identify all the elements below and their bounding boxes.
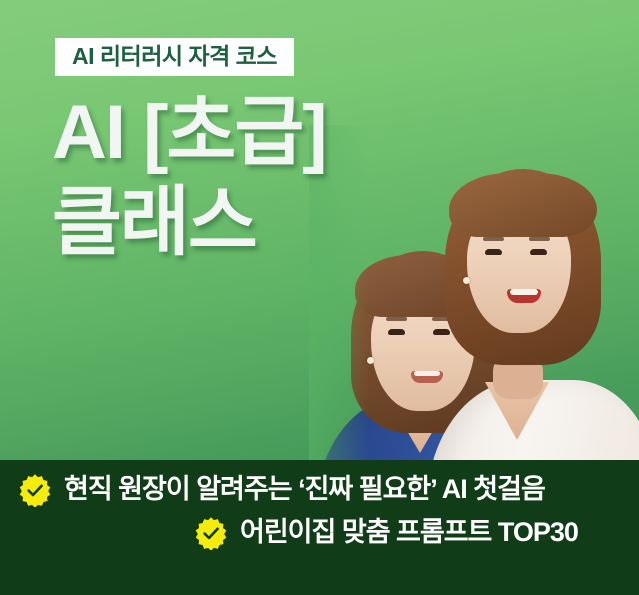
instructor-right-eye bbox=[485, 249, 502, 255]
check-badge-icon bbox=[18, 473, 52, 507]
check-badge-icon bbox=[194, 516, 228, 550]
feature-bullet-text: 현직 원장이 알려주는 ‘진짜 필요한’ AI 첫걸음 bbox=[64, 472, 545, 507]
course-promo-banner: AI 리터러시 자격 코스 AI [초급] 클래스 현직 원장이 알려주는 ‘진… bbox=[0, 0, 639, 595]
headline-line-2: 클래스 bbox=[52, 178, 326, 268]
instructor-left-eyebrow bbox=[386, 317, 407, 321]
instructor-right-eye bbox=[530, 249, 547, 255]
eyebrow-badge: AI 리터러시 자격 코스 bbox=[55, 38, 294, 76]
page-title: AI [초급] 클래스 bbox=[52, 88, 326, 267]
instructor-right-eyebrow bbox=[483, 237, 504, 241]
feature-bullet-bar: 현직 원장이 알려주는 ‘진짜 필요한’ AI 첫걸음 어린이집 맞춤 프롬프트… bbox=[0, 460, 639, 595]
instructor-left-earring bbox=[367, 357, 374, 364]
instructor-right-earring bbox=[463, 277, 470, 284]
instructor-right-eyebrow bbox=[529, 237, 550, 241]
headline-line-1: AI [초급] bbox=[52, 88, 326, 178]
feature-bullet-text: 어린이집 맞춤 프롬프트 TOP30 bbox=[240, 515, 578, 550]
instructor-left-eye bbox=[388, 329, 405, 335]
feature-bullet-item: 현직 원장이 알려주는 ‘진짜 필요한’ AI 첫걸음 bbox=[0, 472, 639, 507]
instructor-right-mouth bbox=[507, 289, 541, 303]
eyebrow-badge-label: AI 리터러시 자격 코스 bbox=[72, 43, 277, 69]
feature-bullet-item: 어린이집 맞춤 프롬프트 TOP30 bbox=[0, 515, 639, 550]
instructor-right-bangs bbox=[449, 173, 597, 237]
